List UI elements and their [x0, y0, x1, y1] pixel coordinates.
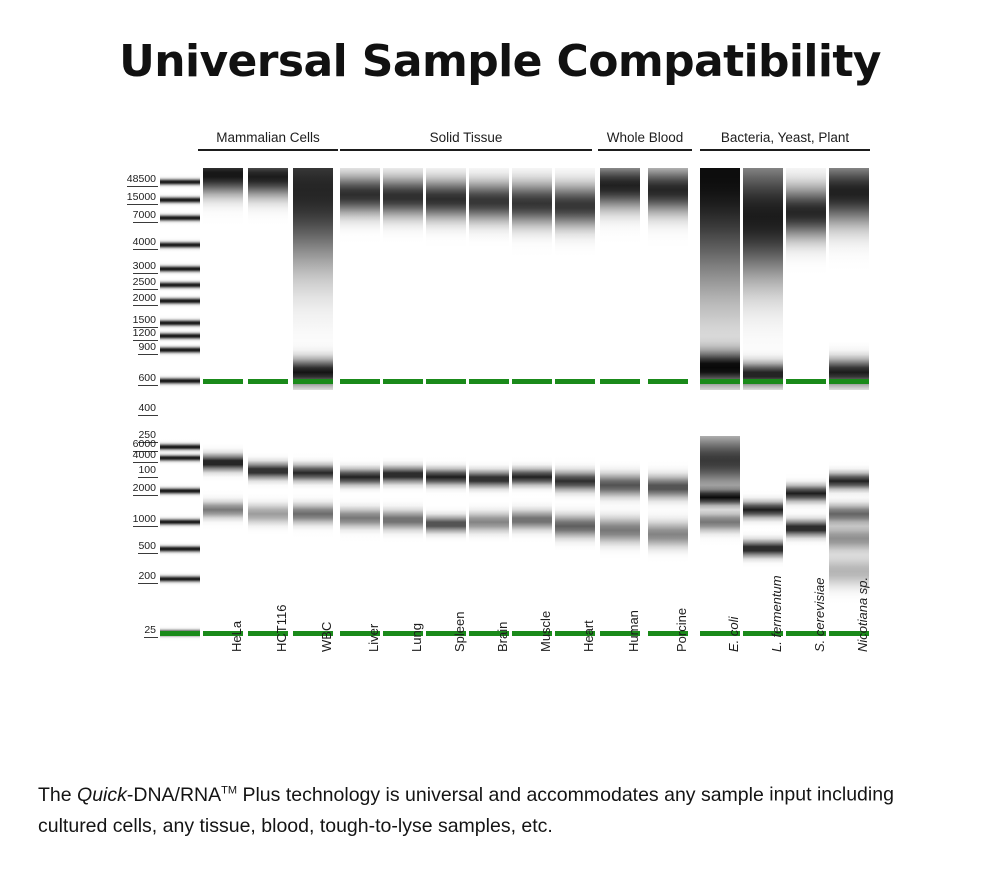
ladder-size-label: 25 [112, 624, 158, 638]
ladder-size-value: 4000 [133, 449, 158, 463]
gel-lane-e-coli [700, 436, 740, 641]
ladder-marker-band [160, 631, 200, 636]
gel-lane-hela [203, 168, 243, 390]
lower-marker-band [248, 379, 288, 384]
gel-lane-muscle [512, 168, 552, 390]
gel-lane-heart [555, 168, 595, 390]
ladder-size-value: 500 [138, 540, 158, 554]
gel-lane-l-fermentum [743, 168, 783, 390]
category-underline [700, 149, 870, 151]
gel-lane-brain [469, 436, 509, 641]
category-header-bacteria-yeast-plant: Bacteria, Yeast, Plant [700, 130, 870, 155]
sample-label-nicotiana-sp: Nicotiana sp. [855, 577, 870, 652]
ladder-size-value: 4000 [133, 236, 158, 250]
ladder-size-label: 1000 [112, 513, 158, 527]
ladder-size-value: 7000 [133, 209, 158, 223]
category-label: Solid Tissue [340, 130, 592, 145]
sample-label-spleen: Spleen [452, 612, 467, 652]
ladder-size-label: 500 [112, 540, 158, 554]
caption-line1: The Quick-DNA/RNATM Plus technology is u… [38, 784, 764, 806]
lower-marker-band [469, 379, 509, 384]
ladder-size-value: 1200 [133, 327, 158, 341]
sample-label-human: Human [626, 610, 641, 652]
category-label: Bacteria, Yeast, Plant [700, 130, 870, 145]
lower-marker-band [426, 379, 466, 384]
sample-label-hct116: HCT116 [274, 605, 289, 652]
gel-lane-hela [203, 436, 243, 641]
sample-label-e-coli: E. coli [726, 617, 741, 652]
ladder-size-label: 400 [112, 402, 158, 416]
ladder-size-value: 25 [144, 624, 158, 638]
ladder-size-value: 2500 [133, 276, 158, 290]
gel-lane-porcine [648, 168, 688, 390]
ladder-size-label: 2000 [112, 482, 158, 496]
ladder-lane-dna [160, 168, 200, 390]
sample-label-brain: Brain [495, 622, 510, 652]
ladder-size-value: 200 [138, 570, 158, 584]
ladder-size-label: 4000 [112, 236, 158, 250]
lower-marker-band [648, 379, 688, 384]
ladder-lane-rna [160, 436, 200, 641]
ladder-size-label: 4000 [112, 449, 158, 463]
ladder-size-value: 48500 [127, 173, 158, 187]
ladder-size-label: 2000 [112, 292, 158, 306]
category-underline [598, 149, 692, 151]
category-header-whole-blood: Whole Blood [598, 130, 692, 155]
ladder-size-value: 100 [138, 464, 158, 478]
figure-root: Universal Sample Compatibility Mammalian… [0, 0, 1000, 875]
ladder-size-label: 1200 [112, 327, 158, 341]
gel-lane-lung [383, 436, 423, 641]
category-underline [198, 149, 338, 151]
ladder-size-value: 3000 [133, 260, 158, 274]
ladder-size-label: 900 [112, 341, 158, 355]
ladder-size-label: 200 [112, 570, 158, 584]
gel-lane-lung [383, 168, 423, 390]
category-label: Whole Blood [598, 130, 692, 145]
gel-lane-wbc [293, 436, 333, 641]
sample-label-hela: HeLa [229, 621, 244, 652]
category-header-mammalian-cells: Mammalian Cells [198, 130, 338, 155]
lower-marker-band [203, 379, 243, 384]
ladder-size-label: 48500 [112, 173, 158, 187]
sample-label-porcine: Porcine [674, 608, 689, 652]
sample-label-heart: Heart [581, 620, 596, 652]
ladder-size-value: 2000 [133, 292, 158, 306]
ladder-size-value: 15000 [127, 191, 158, 205]
sample-label-lung: Lung [409, 623, 424, 652]
ladder-size-label: 1500 [112, 314, 158, 328]
ladder-size-value: 900 [138, 341, 158, 355]
ladder-size-value: 400 [138, 402, 158, 416]
lower-marker-band [555, 379, 595, 384]
gel-lane-human [600, 168, 640, 390]
category-underline [340, 149, 592, 151]
lower-marker-band [600, 379, 640, 384]
sample-label-s-cerevisiae: S. cerevisiae [812, 578, 827, 652]
ladder-size-value: 600 [138, 372, 158, 386]
ladder-size-value: 2000 [133, 482, 158, 496]
ladder-size-label: 7000 [112, 209, 158, 223]
ladder-size-value: 1500 [133, 314, 158, 328]
ladder-size-label: 3000 [112, 260, 158, 274]
gel-lane-e-coli [700, 168, 740, 390]
ladder-size-label: 2500 [112, 276, 158, 290]
gel-lane-brain [469, 168, 509, 390]
gel-lane-heart [555, 436, 595, 641]
figure-caption: The Quick-DNA/RNATM Plus technology is u… [38, 775, 968, 842]
gel-lane-hct116 [248, 168, 288, 390]
gel-lane-spleen [426, 436, 466, 641]
lower-marker-band [700, 379, 740, 384]
gel-lane-liver [340, 436, 380, 641]
page-title: Universal Sample Compatibility [0, 36, 1000, 87]
lower-marker-band [512, 379, 552, 384]
sample-label-liver: Liver [366, 624, 381, 652]
category-header-solid-tissue: Solid Tissue [340, 130, 592, 155]
lower-marker-band [340, 379, 380, 384]
lower-marker-band [829, 379, 869, 384]
lower-marker-band [786, 379, 826, 384]
ladder-size-value: 1000 [133, 513, 158, 527]
gel-lane-spleen [426, 168, 466, 390]
gel-lane-wbc [293, 168, 333, 390]
ladder-size-label: 15000 [112, 191, 158, 205]
sample-label-l-fermentum: L. fermentum [769, 575, 784, 652]
category-label: Mammalian Cells [198, 130, 338, 145]
lower-marker-band [743, 379, 783, 384]
lower-marker-band [383, 379, 423, 384]
gel-lane-s-cerevisiae [786, 168, 826, 390]
sample-label-wbc: WBC [319, 622, 334, 652]
ladder-size-label: 100 [112, 464, 158, 478]
sample-label-muscle: Muscle [538, 611, 553, 652]
lower-marker-band [293, 379, 333, 384]
gel-lane-nicotiana-sp [829, 168, 869, 390]
ladder-size-label: 600 [112, 372, 158, 386]
gel-lane-liver [340, 168, 380, 390]
